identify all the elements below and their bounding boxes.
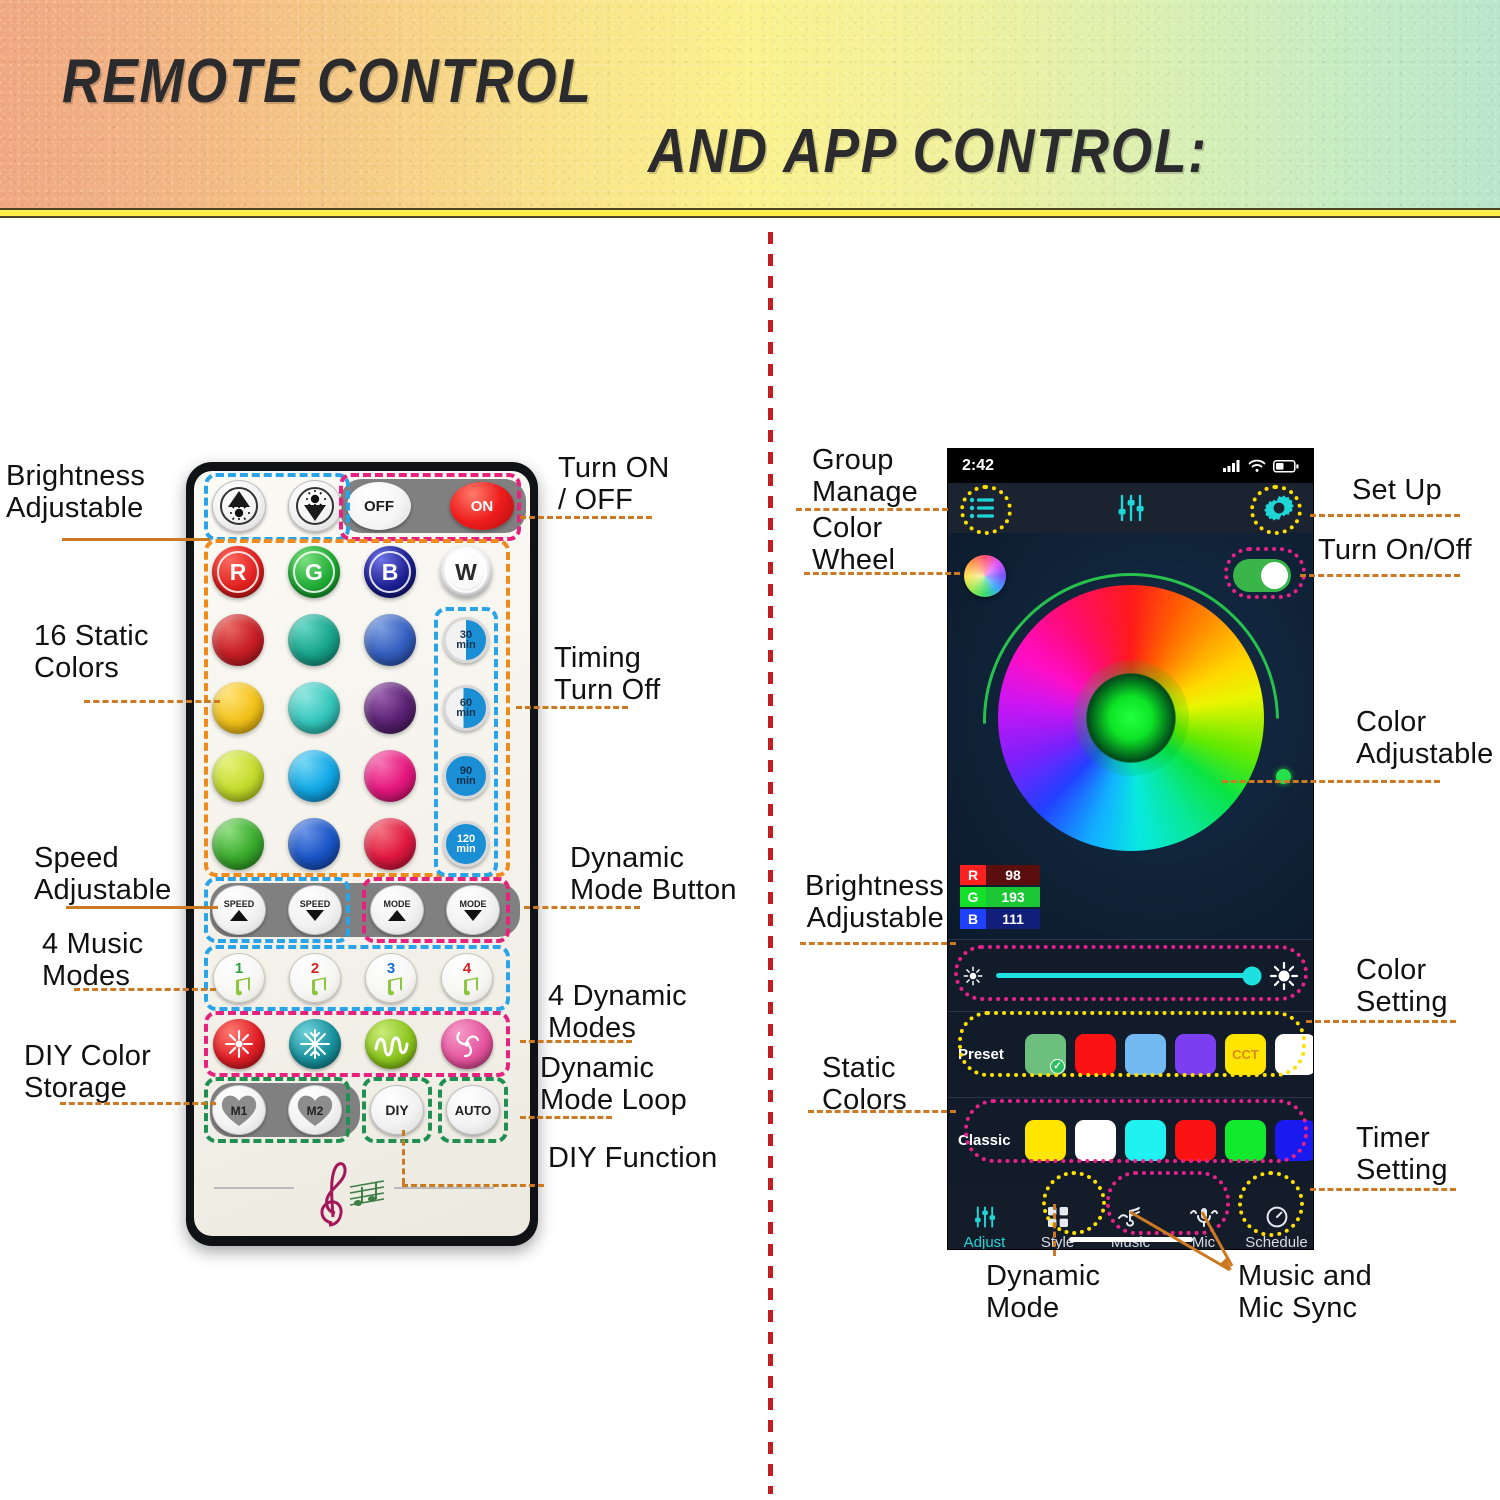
svg-text:M1: M1 bbox=[231, 1104, 248, 1118]
callout-16-static-colors: 16 Static Colors bbox=[34, 620, 214, 685]
callout-timing-turn-off: Timing Turn Off bbox=[554, 642, 764, 707]
treble-clef-decal bbox=[302, 1151, 386, 1234]
header-divider-rule bbox=[0, 208, 1500, 218]
power-off-label: OFF bbox=[364, 498, 394, 515]
music-mode-1-number: 1 bbox=[235, 961, 243, 976]
static-color-swatch[interactable] bbox=[288, 682, 340, 734]
brightness-down-button[interactable] bbox=[288, 480, 342, 532]
decal-rule-left bbox=[214, 1187, 294, 1189]
svg-text:M2: M2 bbox=[307, 1104, 324, 1118]
header-title-line2: AND APP CONTROL: bbox=[648, 116, 1208, 187]
color-wheel-center-glow bbox=[1073, 660, 1189, 776]
static-color-swatch[interactable] bbox=[364, 682, 416, 734]
music-note-icon bbox=[304, 976, 326, 996]
color-button-b-label: B bbox=[382, 559, 399, 586]
color-button-b[interactable]: B bbox=[364, 546, 416, 598]
callout-phone-static-colors: Static Colors bbox=[822, 1052, 982, 1117]
classic-chip-red[interactable] bbox=[1175, 1120, 1216, 1161]
timer-30min-label: 30 min bbox=[456, 630, 476, 651]
leader-diy-function-v bbox=[402, 1130, 405, 1184]
triangle-down-icon bbox=[463, 909, 483, 922]
leader-timer-setting bbox=[1310, 1188, 1456, 1191]
wave-icon bbox=[373, 1030, 409, 1058]
static-color-swatch[interactable] bbox=[364, 614, 416, 666]
classic-chip-white[interactable] bbox=[1075, 1120, 1116, 1161]
sun-large-icon bbox=[1269, 961, 1299, 991]
preset-chip-cct[interactable]: CCT bbox=[1225, 1034, 1266, 1075]
rgb-key-g: G bbox=[960, 887, 986, 907]
static-color-swatch[interactable] bbox=[288, 818, 340, 870]
power-on-button[interactable]: ON bbox=[450, 482, 514, 530]
power-toggle[interactable] bbox=[1233, 559, 1291, 592]
leader-diy-function-h bbox=[402, 1184, 544, 1187]
rgb-value-g: 193 bbox=[986, 887, 1040, 907]
callout-color-adjustable: Color Adjustable bbox=[1356, 706, 1500, 771]
classic-colors-section: Classic bbox=[948, 1097, 1313, 1183]
triangle-up-icon bbox=[387, 909, 407, 922]
spiral-icon bbox=[450, 1027, 484, 1061]
settings-button[interactable] bbox=[1263, 492, 1295, 529]
color-button-g-label: G bbox=[305, 559, 323, 586]
flash-burst-icon bbox=[222, 1027, 256, 1061]
leader-phone-static-colors bbox=[808, 1110, 956, 1113]
music-mode-2-button[interactable]: 2 bbox=[289, 953, 341, 1003]
decal-rule-right bbox=[394, 1187, 494, 1189]
tab-schedule[interactable]: Schedule bbox=[1243, 1205, 1311, 1250]
static-color-swatch[interactable] bbox=[288, 614, 340, 666]
header-banner: REMOTE CONTROL AND APP CONTROL: bbox=[0, 0, 1500, 218]
tab-adjust[interactable]: Adjust bbox=[951, 1205, 1019, 1250]
battery-icon bbox=[1273, 460, 1299, 473]
mode-up-button[interactable]: MODE bbox=[370, 885, 424, 935]
brightness-up-button[interactable] bbox=[212, 480, 266, 532]
timer-120min-button[interactable]: 120 min bbox=[443, 821, 489, 867]
music-mode-4-button[interactable]: 4 bbox=[441, 953, 493, 1003]
app-toolbar bbox=[948, 483, 1313, 533]
color-button-g[interactable]: G bbox=[288, 546, 340, 598]
classic-chip-green[interactable] bbox=[1225, 1120, 1266, 1161]
leader-brightness bbox=[62, 538, 210, 541]
music-mode-3-number: 3 bbox=[387, 961, 395, 976]
timer-90min-label: 90 min bbox=[456, 766, 476, 787]
color-button-r-label: R bbox=[230, 559, 247, 586]
remote-control: OFF ON R G B W 30 min bbox=[186, 462, 538, 1246]
preset-chip-purple[interactable] bbox=[1175, 1034, 1216, 1075]
callout-turn-on-off: Turn ON / OFF bbox=[558, 452, 758, 517]
sun-small-icon bbox=[962, 965, 984, 987]
phone-app-screen: 2:42 bbox=[947, 448, 1314, 1250]
brightness-slider[interactable] bbox=[996, 973, 1257, 978]
color-button-r[interactable]: R bbox=[212, 546, 264, 598]
static-color-swatch[interactable] bbox=[212, 750, 264, 802]
dynamic-mode-spiral-button[interactable] bbox=[441, 1019, 493, 1069]
callout-brightness-adjustable: Brightness Adjustable bbox=[6, 460, 206, 525]
timer-60min-label: 60 min bbox=[456, 698, 476, 719]
sliders-icon bbox=[972, 1205, 998, 1229]
rgb-readout: R 98 G 193 B 111 bbox=[960, 865, 1040, 929]
rgb-row-b: B 111 bbox=[960, 909, 1040, 929]
mode-down-button[interactable]: MODE bbox=[446, 885, 500, 935]
rgb-key-b: B bbox=[960, 909, 986, 929]
signal-bars-icon bbox=[1223, 459, 1241, 473]
callout-set-up: Set Up bbox=[1352, 474, 1500, 506]
leader-dynamic-loop bbox=[520, 1116, 612, 1119]
leader-dynamic-mode-button bbox=[524, 906, 640, 909]
music-note-icon bbox=[228, 976, 250, 996]
leader-diy-storage bbox=[60, 1102, 216, 1105]
music-mode-4-number: 4 bbox=[463, 961, 471, 976]
callout-4-dynamic-modes: 4 Dynamic Modes bbox=[548, 980, 768, 1045]
leader-speed bbox=[66, 906, 218, 909]
memory-m2-button[interactable]: M2 bbox=[288, 1085, 342, 1135]
static-color-swatch[interactable] bbox=[212, 682, 264, 734]
rgb-row-g: G 193 bbox=[960, 887, 1040, 907]
diy-button[interactable]: DIY bbox=[370, 1085, 424, 1135]
timer-60min-button[interactable]: 60 min bbox=[443, 685, 489, 731]
mode-down-label: MODE bbox=[460, 899, 487, 909]
callout-dynamic-mode-loop: Dynamic Mode Loop bbox=[540, 1052, 780, 1117]
rgb-key-r: R bbox=[960, 865, 986, 885]
rgb-value-r: 98 bbox=[986, 865, 1040, 885]
static-color-swatch[interactable] bbox=[364, 750, 416, 802]
leader-music-modes bbox=[74, 988, 216, 991]
auto-button-label: AUTO bbox=[455, 1103, 492, 1118]
heart-icon: M2 bbox=[293, 1091, 337, 1129]
preset-chip-cct-label: CCT bbox=[1232, 1047, 1259, 1062]
music-note-icon bbox=[380, 976, 402, 996]
speed-down-label: SPEED bbox=[300, 899, 331, 909]
preset-chip-red[interactable] bbox=[1075, 1034, 1116, 1075]
leader-color-setting bbox=[1306, 1020, 1456, 1023]
leader-set-up bbox=[1310, 514, 1460, 517]
timer-90min-button[interactable]: 90 min bbox=[443, 753, 489, 799]
color-wheel-stage: R 98 G 193 B 111 bbox=[948, 533, 1313, 939]
brightness-up-icon bbox=[219, 486, 259, 526]
leader-timing bbox=[516, 706, 628, 709]
tab-style[interactable]: Style bbox=[1024, 1205, 1092, 1250]
auto-button[interactable]: AUTO bbox=[446, 1085, 500, 1135]
music-mode-3-button[interactable]: 3 bbox=[365, 953, 417, 1003]
static-color-swatch[interactable] bbox=[212, 614, 264, 666]
preset-chip-white[interactable] bbox=[1275, 1034, 1314, 1075]
classic-chip-cyan[interactable] bbox=[1125, 1120, 1166, 1161]
mode-up-label: MODE bbox=[384, 899, 411, 909]
tab-adjust-label: Adjust bbox=[964, 1234, 1006, 1250]
callout-diy-color-storage: DIY Color Storage bbox=[24, 1040, 224, 1105]
callout-dynamic-mode-button: Dynamic Mode Button bbox=[570, 842, 800, 907]
leader-phone-brightness bbox=[800, 942, 956, 945]
callout-phone-brightness: Brightness Adjustable bbox=[768, 870, 944, 935]
speed-down-button[interactable]: SPEED bbox=[288, 885, 342, 935]
power-off-button[interactable]: OFF bbox=[347, 482, 411, 530]
callout-color-wheel: Color Wheel bbox=[812, 512, 992, 577]
power-on-label: ON bbox=[471, 498, 494, 515]
status-bar: 2:42 bbox=[948, 449, 1313, 483]
grid-icon bbox=[1046, 1205, 1070, 1229]
color-button-w-label: W bbox=[455, 559, 477, 586]
callout-speed-adjustable: Speed Adjustable bbox=[34, 842, 224, 907]
leader-color-wheel bbox=[804, 572, 960, 575]
classic-chip-yellow[interactable] bbox=[1025, 1120, 1066, 1161]
leader-color-adjustable bbox=[1222, 780, 1440, 783]
music-note-icon bbox=[456, 976, 478, 996]
leader-dynamic-modes bbox=[520, 1040, 632, 1043]
callout-diy-function: DIY Function bbox=[548, 1142, 788, 1174]
callout-group-manage: Group Manage bbox=[812, 444, 992, 509]
leader-group-manage bbox=[796, 508, 948, 511]
wifi-icon bbox=[1248, 459, 1266, 473]
dynamic-mode-wave-button[interactable] bbox=[365, 1019, 417, 1069]
callout-music-mic-sync: Music and Mic Sync bbox=[1238, 1260, 1448, 1325]
preset-chip-blue[interactable] bbox=[1125, 1034, 1166, 1075]
music-mode-2-number: 2 bbox=[311, 961, 319, 976]
timer-120min-label: 120 min bbox=[456, 834, 476, 855]
treble-clef-icon bbox=[302, 1151, 386, 1229]
brightness-section bbox=[948, 939, 1313, 1011]
toggle-knob bbox=[1261, 562, 1288, 589]
sliders-icon[interactable] bbox=[1115, 493, 1147, 523]
remote-faceplate: OFF ON R G B W 30 min bbox=[194, 471, 530, 1236]
classic-label: Classic bbox=[958, 1132, 1016, 1149]
snowflake-icon bbox=[298, 1027, 332, 1061]
tab-schedule-label: Schedule bbox=[1245, 1234, 1308, 1250]
music-mode-1-button[interactable]: 1 bbox=[213, 953, 265, 1003]
rgb-row-r: R 98 bbox=[960, 865, 1040, 885]
timer-30min-button[interactable]: 30 min bbox=[443, 617, 489, 663]
preset-chip-green[interactable]: ✓ bbox=[1025, 1034, 1066, 1075]
diy-button-label: DIY bbox=[385, 1102, 408, 1118]
brightness-slider-thumb[interactable] bbox=[1242, 966, 1261, 985]
gear-icon bbox=[1263, 492, 1295, 524]
leader-power bbox=[520, 516, 652, 519]
timer-icon bbox=[1265, 1205, 1289, 1229]
dynamic-mode-snow-button[interactable] bbox=[289, 1019, 341, 1069]
header-title-line1: REMOTE CONTROL bbox=[62, 46, 593, 117]
callout-timer-setting: Timer Setting bbox=[1356, 1122, 1500, 1187]
callout-color-setting: Color Setting bbox=[1356, 954, 1500, 1019]
static-color-swatch[interactable] bbox=[364, 818, 416, 870]
triangle-down-icon bbox=[305, 909, 325, 922]
callout-turn-on-off-app: Turn On/Off bbox=[1318, 534, 1500, 566]
leader-music-mic-arrows bbox=[1120, 1208, 1250, 1278]
callout-4-music-modes: 4 Music Modes bbox=[42, 928, 212, 993]
brightness-down-icon bbox=[295, 486, 335, 526]
preset-colors-section: Preset ✓ CCT bbox=[948, 1011, 1313, 1097]
color-button-w[interactable]: W bbox=[440, 546, 492, 598]
classic-chip-blue[interactable] bbox=[1275, 1120, 1314, 1161]
check-icon: ✓ bbox=[1050, 1059, 1065, 1074]
leader-static-colors bbox=[84, 700, 220, 703]
triangle-up-icon bbox=[229, 909, 249, 922]
rgb-value-b: 111 bbox=[986, 909, 1040, 929]
color-wheel[interactable] bbox=[998, 585, 1264, 851]
leader-turn-on-off-app bbox=[1300, 574, 1460, 577]
static-color-swatch[interactable] bbox=[288, 750, 340, 802]
leader-dynamic-mode-app bbox=[1053, 1204, 1056, 1256]
speed-up-label: SPEED bbox=[224, 899, 255, 909]
